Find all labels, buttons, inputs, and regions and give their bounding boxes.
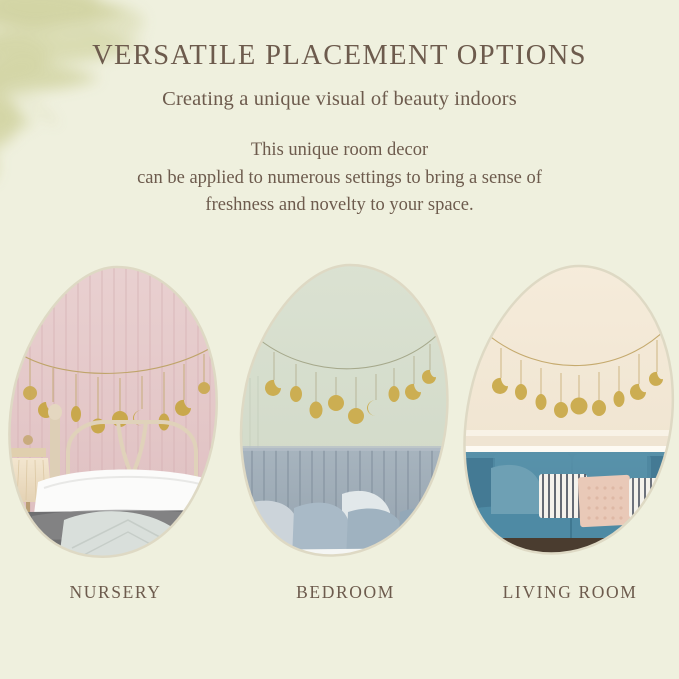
- panel-nursery[interactable]: [8, 262, 223, 567]
- panel-living-room[interactable]: [461, 262, 679, 567]
- header-block: VERSATILE PLACEMENT OPTIONS Creating a u…: [0, 0, 679, 219]
- panel-bedroom[interactable]: [238, 262, 453, 567]
- description-line-3: freshness and novelty to your space.: [0, 192, 679, 219]
- label-nursery: NURSERY: [8, 582, 223, 603]
- label-bedroom: BEDROOM: [238, 582, 453, 603]
- panel-labels: NURSERY BEDROOM LIVING ROOM: [0, 582, 679, 612]
- bedroom-scene: [228, 252, 468, 582]
- bedding: [26, 469, 212, 567]
- sofa: [451, 452, 679, 544]
- label-living-room: LIVING ROOM: [461, 582, 679, 603]
- description-line-1: This unique room decor: [0, 137, 679, 164]
- rug: [451, 554, 679, 574]
- description-line-2: can be applied to numerous settings to b…: [0, 165, 679, 192]
- panel-gallery: [0, 262, 679, 572]
- page-description: This unique room decor can be applied to…: [0, 111, 679, 219]
- nursery-scene: [0, 252, 238, 582]
- page-title: VERSATILE PLACEMENT OPTIONS: [0, 0, 679, 71]
- poster-canvas: VERSATILE PLACEMENT OPTIONS Creating a u…: [0, 0, 679, 679]
- page-subtitle: Creating a unique visual of beauty indoo…: [0, 71, 679, 111]
- wall-moulding: [451, 430, 679, 452]
